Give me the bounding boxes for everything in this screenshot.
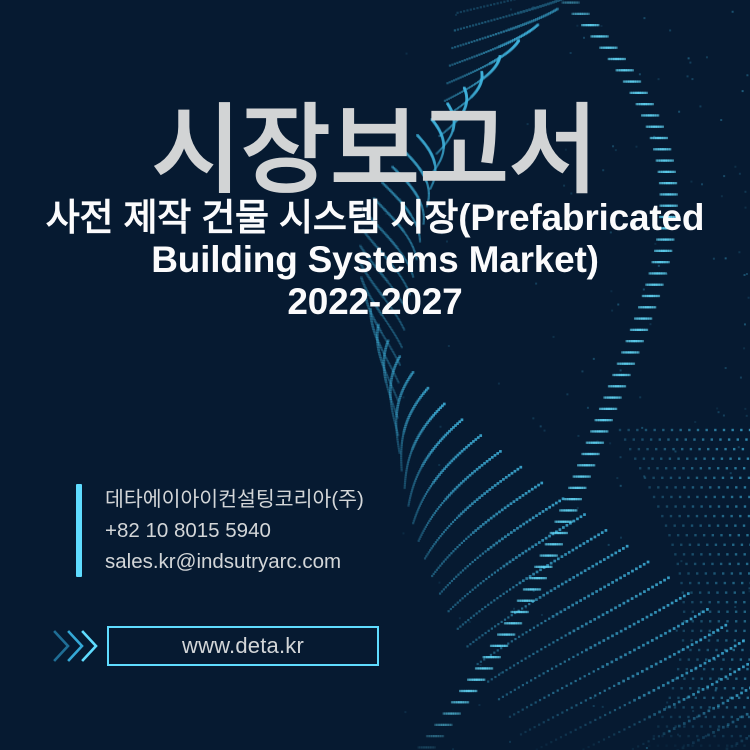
contact-block: 데타에이아이컨설팅코리아(주) +82 10 8015 5940 sales.k… [76,484,364,577]
website-url-label: www.deta.kr [182,635,304,657]
subtitle: 사전 제작 건물 시스템 시장(Prefabricated Building S… [0,197,750,324]
contact-lines: 데타에이아이컨설팅코리아(주) +82 10 8015 5940 sales.k… [82,484,364,577]
subtitle-line-1: 사전 제작 건물 시스템 시장(Prefabricated [26,197,724,239]
headline-block: 시장보고서 사전 제작 건물 시스템 시장(Prefabricated Buil… [0,104,750,324]
website-button[interactable]: www.deta.kr [107,626,379,666]
phone-number: +82 10 8015 5940 [105,515,364,546]
subtitle-line-2: Building Systems Market) [26,239,724,281]
cta-row: www.deta.kr [52,626,379,666]
double-chevron-right-icon [52,628,98,664]
page-title: 시장보고서 [0,104,750,197]
email-address: sales.kr@indsutryarc.com [105,546,364,577]
subtitle-line-3: 2022-2027 [26,281,724,323]
market-report-poster: 시장보고서 사전 제작 건물 시스템 시장(Prefabricated Buil… [0,0,750,750]
company-name: 데타에이아이컨설팅코리아(주) [105,484,364,515]
poster-content: 시장보고서 사전 제작 건물 시스템 시장(Prefabricated Buil… [0,0,750,750]
